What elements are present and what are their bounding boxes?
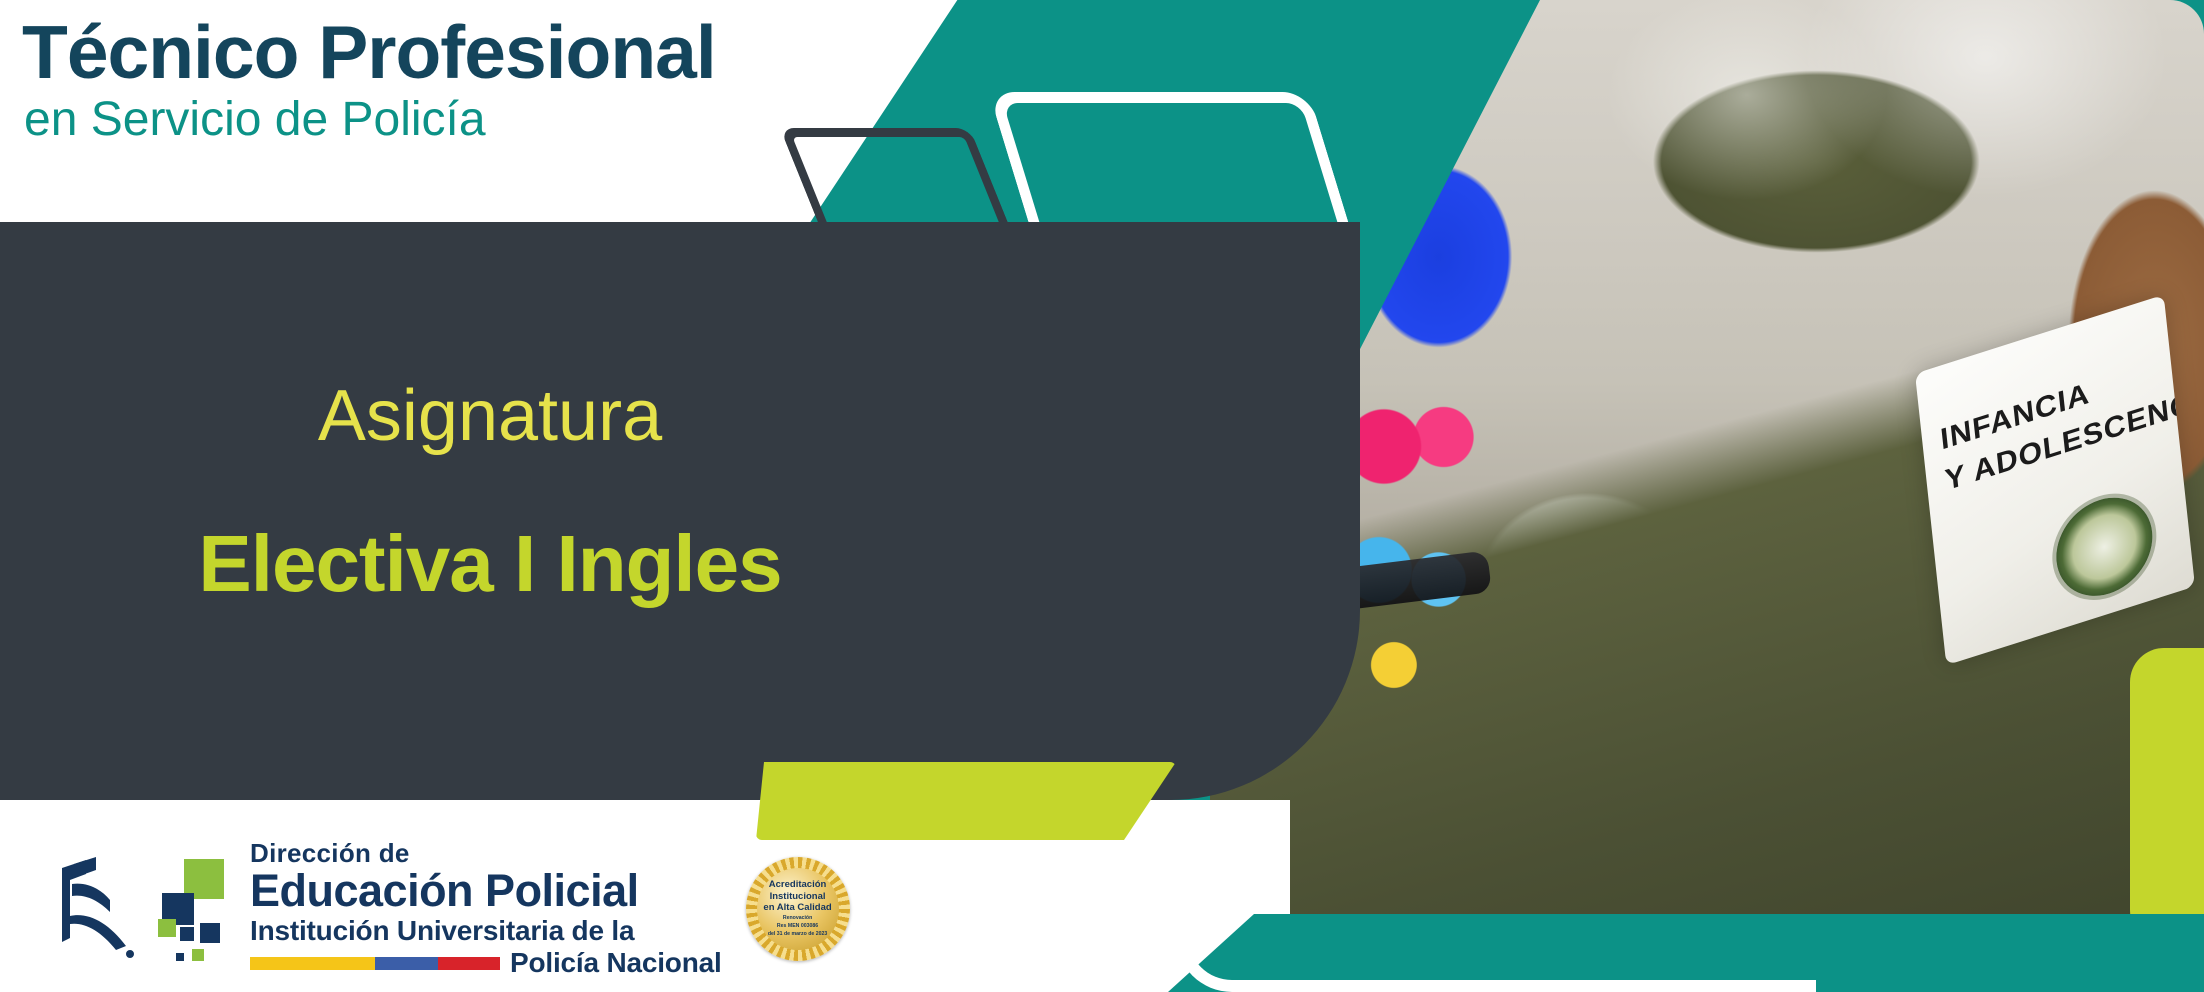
teal-bottom-band	[1168, 914, 2204, 992]
white-outline-rounded-shape	[989, 92, 1352, 232]
seal-line-3: en Alta Calidad	[763, 902, 831, 913]
seal-detail-3: del 31 de marzo de 2023	[768, 931, 827, 937]
seal-line-1: Acreditación	[769, 879, 827, 890]
logo-line-3: Institución Universitaria de la	[250, 917, 722, 945]
seal-line-2: Institucional	[770, 891, 826, 902]
subject-name: Electiva I Ingles	[0, 524, 980, 604]
accreditation-seal-icon: Acreditación Institucional en Alta Calid…	[746, 857, 850, 961]
program-banner: INFANCIA Y ADOLESCENCIA Técnico Profesio…	[0, 0, 2204, 992]
pixel-squares-icon	[158, 857, 236, 961]
logo-line-1: Dirección de	[250, 840, 722, 866]
seal-detail-1: Renovación	[783, 915, 812, 921]
program-header: Técnico Profesional en Servicio de Polic…	[22, 16, 902, 144]
page-title: Técnico Profesional	[22, 16, 902, 90]
page-subtitle: en Servicio de Policía	[24, 96, 902, 144]
seal-inner: Acreditación Institucional en Alta Calid…	[757, 868, 839, 950]
logo-line-4: Policía Nacional	[510, 949, 722, 977]
lime-parallelogram-shape	[756, 762, 1176, 840]
logo-line-2: Educación Policial	[250, 868, 722, 913]
open-book-icon	[52, 854, 144, 964]
seal-detail-2: Res MEN 003086	[777, 923, 818, 929]
police-emblem-icon	[2052, 485, 2158, 609]
institution-logo: Dirección de Educación Policial Instituc…	[52, 840, 850, 977]
banner-background: INFANCIA Y ADOLESCENCIA Técnico Profesio…	[0, 0, 2204, 992]
lime-side-tab-shape	[2130, 648, 2204, 944]
subject-label: Asignatura	[0, 380, 980, 452]
subject-block: Asignatura Electiva I Ingles	[0, 380, 980, 604]
colombia-flag-bar-icon	[250, 957, 500, 970]
logo-text-block: Dirección de Educación Policial Instituc…	[250, 840, 722, 977]
